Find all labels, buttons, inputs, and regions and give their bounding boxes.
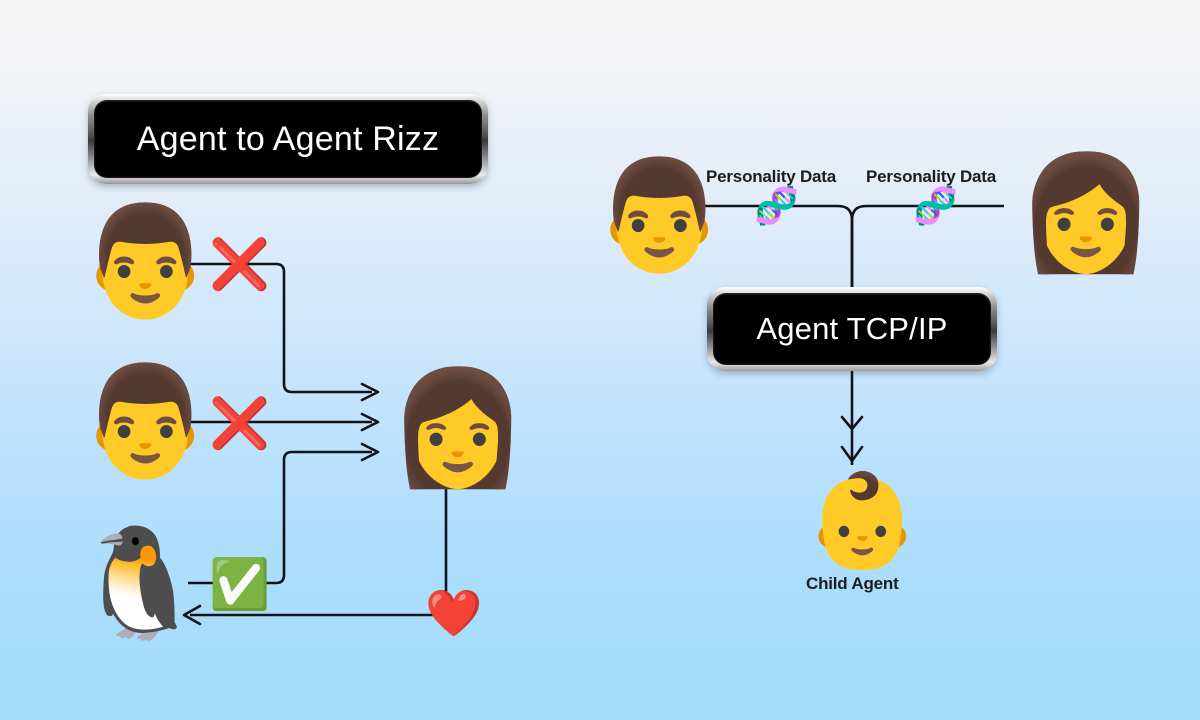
link-label-left: Personality Data [706, 167, 836, 187]
diagram-canvas: Agent to Agent Rizz 👨 ❌ 👨 ❌ 🐧 ✅ 👩 ❤️ 👨 👩… [0, 0, 1200, 720]
parent-right-woman-emoji: 👩 [1016, 157, 1155, 269]
arrowhead-suitor2 [362, 414, 378, 430]
target-woman-emoji: 👩 [388, 372, 527, 484]
child-agent-label: Child Agent [806, 574, 899, 594]
arrowhead-child-upper [842, 417, 862, 429]
tcpip-badge-inner: Agent TCP/IP [713, 293, 991, 365]
suitor-3-check-mark-icon: ✅ [209, 560, 270, 609]
arrowhead-child-lower [842, 447, 862, 461]
link-label-right: Personality Data [866, 167, 996, 187]
title-badge: Agent to Agent Rizz [88, 94, 488, 184]
tcpip-badge-label: Agent TCP/IP [756, 311, 947, 347]
title-badge-label: Agent to Agent Rizz [137, 120, 439, 159]
arrowhead-suitor1 [362, 384, 378, 400]
title-badge-inner: Agent to Agent Rizz [94, 100, 482, 178]
suitor-2-cross-mark-icon: ❌ [209, 399, 270, 448]
arrowhead-suitor3 [362, 444, 378, 460]
dna-icon-right: 🧬 [913, 189, 958, 225]
suitor-1-man-emoji: 👨 [78, 208, 212, 316]
tcpip-badge: Agent TCP/IP [707, 287, 997, 371]
suitor-1-cross-mark-icon: ❌ [209, 240, 270, 289]
suitor-2-man-emoji: 👨 [78, 368, 212, 476]
child-baby-emoji: 👶 [805, 475, 920, 567]
result-heart-emoji: ❤️ [425, 590, 482, 636]
suitor-3-penguin-emoji: 🐧 [72, 530, 206, 638]
dna-icon-left: 🧬 [754, 189, 799, 225]
